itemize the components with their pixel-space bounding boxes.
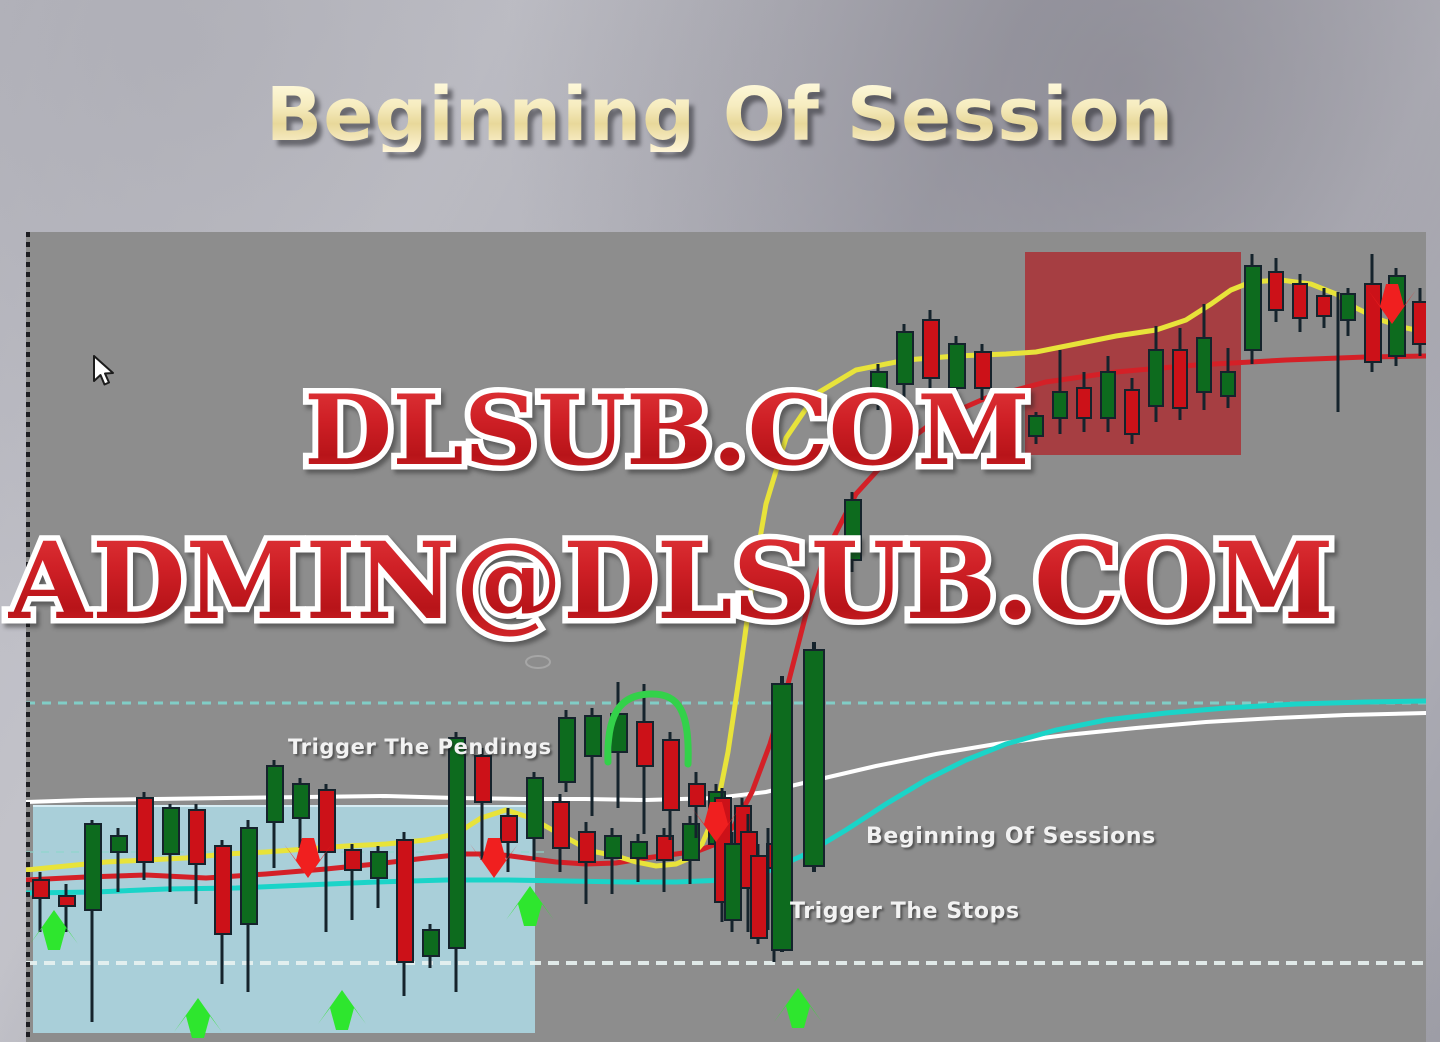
annotation-trigger-stops: Trigger The Stops	[790, 899, 1020, 924]
buy-arrow-icon	[30, 910, 78, 950]
page-title: Beginning Of Session	[0, 78, 1440, 152]
slide-stage: Beginning Of Session	[0, 0, 1440, 1042]
watermark-line-1-fill: DLSUB.COM	[304, 374, 1030, 487]
annotation-beginning-of-sessions: Beginning Of Sessions	[866, 824, 1156, 849]
candle-group-pendings	[559, 682, 783, 962]
buy-arrow-icon	[174, 998, 222, 1038]
impulse-candle	[772, 684, 792, 950]
buy-arrow-icon	[318, 990, 366, 1030]
buy-arrow-icon	[774, 988, 822, 1028]
annotation-trigger-pendings: Trigger The Pendings	[288, 735, 552, 759]
buy-arrow-icon	[506, 886, 554, 926]
faint-oval-mark	[526, 656, 550, 668]
candle-group-trend-box	[1029, 254, 1426, 444]
watermark-line-2-fill: ADMIN@DLSUB.COM	[8, 518, 1334, 643]
mouse-pointer-icon	[92, 355, 118, 389]
